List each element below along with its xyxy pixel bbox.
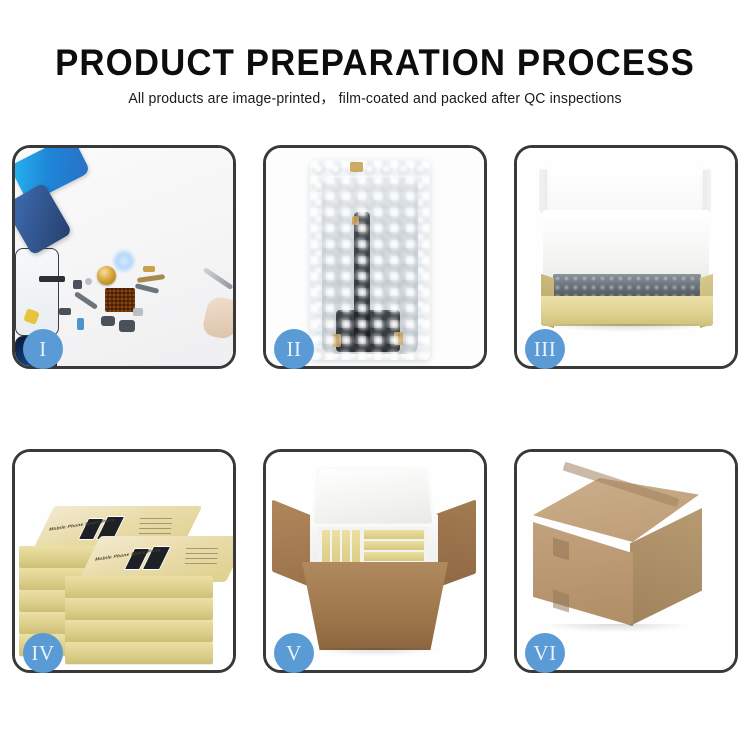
box-label-line <box>139 523 171 524</box>
step-1-badge: I <box>23 329 63 369</box>
process-step-6: VI <box>514 449 738 673</box>
foam-sheet-icon <box>543 210 709 278</box>
gold-part-icon <box>143 266 155 272</box>
box-front-icon <box>541 296 713 326</box>
styrofoam-lid-icon <box>310 467 436 527</box>
tweezers-icon <box>203 267 233 290</box>
process-step-4: Mobile Phone Spare Parts <box>12 449 236 673</box>
box-layer <box>65 642 213 664</box>
page-subtitle: All products are image-printed， film-coa… <box>11 90 739 108</box>
yellow-box-flat <box>364 552 424 561</box>
process-step-1: I <box>12 145 236 369</box>
bubble-texture <box>310 160 430 360</box>
yellow-box-flat <box>364 530 424 539</box>
chip-small-icon <box>59 308 71 315</box>
box-label-line <box>185 558 217 559</box>
yellow-box-flat <box>364 541 424 550</box>
blue-phone-icon <box>15 182 72 255</box>
flex-cable-2-icon <box>135 283 159 294</box>
speaker-icon <box>119 320 135 332</box>
box-label-line <box>185 563 217 564</box>
box-label-line <box>140 518 172 519</box>
tape-icon <box>350 162 363 172</box>
box-shadow <box>545 324 711 332</box>
metal-bracket-icon <box>133 308 143 316</box>
process-step-2: II <box>263 145 487 369</box>
copper-chip-icon <box>105 288 135 312</box>
screw-icon <box>85 278 92 285</box>
step-5-badge: V <box>274 633 314 673</box>
carton-body-icon <box>302 562 448 650</box>
box-label-line <box>139 533 171 534</box>
process-step-3: III <box>514 145 738 369</box>
carton-tape-bottom-icon <box>553 590 569 613</box>
step-2-badge: II <box>274 329 314 369</box>
connector-bar-icon <box>39 276 65 282</box>
carton-shadow <box>312 648 438 656</box>
step-6-badge: VI <box>525 633 565 673</box>
glass-panel-icon <box>15 248 59 336</box>
step-4-badge: IV <box>23 633 63 673</box>
box-layer <box>65 576 213 598</box>
box-layer <box>65 620 213 642</box>
gold-flex-cable-icon <box>137 274 165 283</box>
process-grid: I II <box>12 145 738 673</box>
gold-coil-icon <box>97 266 116 285</box>
process-step-5: V <box>263 449 487 673</box>
blue-part-icon <box>77 318 84 330</box>
box-label-line <box>139 528 171 529</box>
camera-module-icon <box>101 316 115 326</box>
hand-icon <box>201 295 233 341</box>
small-part-icon <box>73 280 82 289</box>
bubble-wrap-bag-icon <box>310 160 430 360</box>
page-title: PRODUCT PREPARATION PROCESS <box>23 42 728 84</box>
flex-cable-icon <box>74 291 98 310</box>
header: PRODUCT PREPARATION PROCESS All products… <box>0 0 750 120</box>
box-label-line <box>185 553 217 554</box>
box-label-line <box>186 548 218 549</box>
box-layer <box>65 598 213 620</box>
step-3-badge: III <box>525 329 565 369</box>
carton-shadow <box>541 624 691 632</box>
